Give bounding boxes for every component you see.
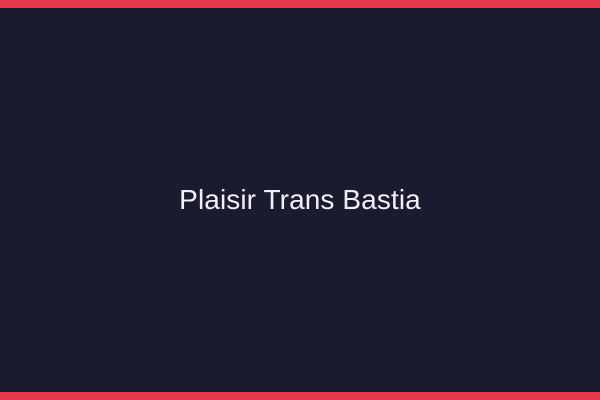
page-title: Plaisir Trans Bastia — [179, 183, 421, 217]
placeholder-card: Plaisir Trans Bastia — [0, 0, 600, 400]
top-accent-bar — [0, 0, 600, 8]
bottom-accent-bar — [0, 392, 600, 400]
placeholder-body: Plaisir Trans Bastia — [0, 8, 600, 392]
